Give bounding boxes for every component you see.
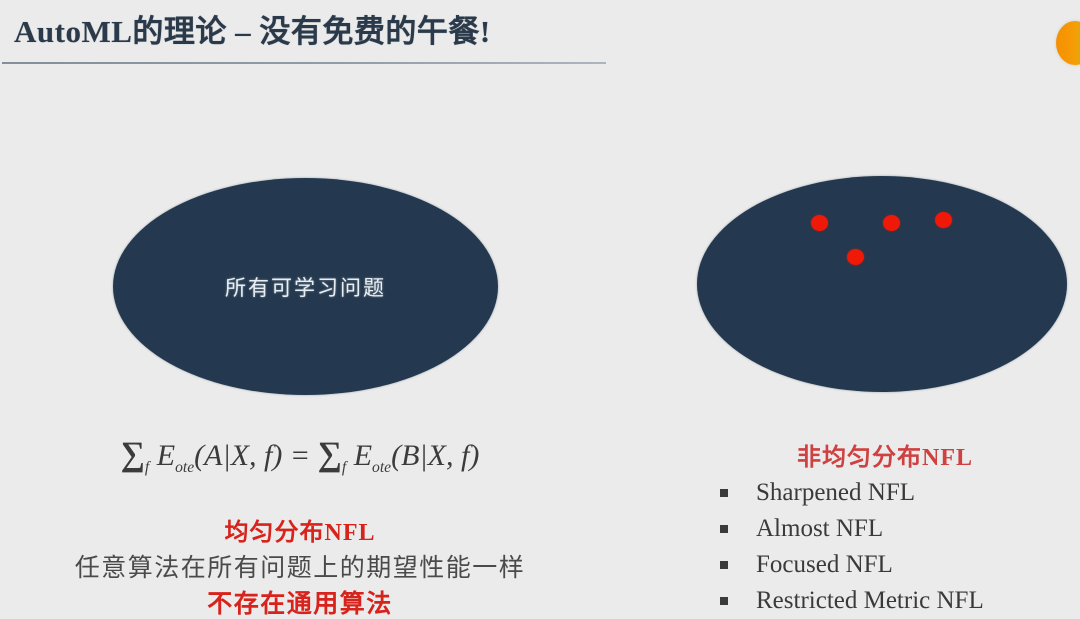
list-item-label: Sharpened NFL <box>756 479 915 506</box>
uniform-nfl-description: 任意算法在所有问题上的期望性能一样 <box>0 548 600 584</box>
red-dot <box>883 215 900 231</box>
uniform-nfl-heading: 均匀分布NFL <box>0 512 600 547</box>
formula-rhs-sum: ∑ <box>318 436 342 473</box>
list-item: Restricted Metric NFL <box>714 583 1074 619</box>
formula-rhs-args: (B|X, f) <box>391 439 479 472</box>
uniform-nfl-conclusion: 不存在通用算法 <box>0 584 600 619</box>
formula-equals: = <box>290 439 310 472</box>
red-dot <box>935 212 952 228</box>
formula-lhs-term: E <box>157 439 175 472</box>
list-item: Sharpened NFL <box>714 475 1074 511</box>
list-item-label: Restricted Metric NFL <box>756 587 984 614</box>
formula-lhs-sum: ∑ <box>121 436 145 473</box>
square-bullet-icon <box>720 525 728 533</box>
formula-rhs-sum-sub: f <box>342 459 346 476</box>
ellipse-left-label: 所有可学习问题 <box>113 178 498 395</box>
nonuniform-nfl-list: Sharpened NFL Almost NFL Focused NFL Res… <box>714 475 1074 619</box>
formula-lhs-args: (A|X, f) <box>194 439 282 472</box>
red-dot <box>811 215 828 231</box>
formula-lhs-sum-sub: f <box>145 459 149 476</box>
list-item-label: Focused NFL <box>756 551 893 578</box>
formula-rhs-term: E <box>354 439 372 472</box>
ellipse-nonuniform-problems <box>697 176 1067 392</box>
list-item: Almost NFL <box>714 511 1074 547</box>
formula-rhs-term-sub: ote <box>372 459 391 476</box>
ellipse-all-learnable-problems: 所有可学习问题 <box>113 178 498 395</box>
square-bullet-icon <box>720 489 728 497</box>
corner-gradient-blob-icon <box>1056 21 1080 65</box>
slide-canvas: AutoML的理论 – 没有免费的午餐! 所有可学习问题 ∑f Eote(A|X… <box>0 0 1080 619</box>
square-bullet-icon <box>720 561 728 569</box>
nfl-formula: ∑f Eote(A|X, f) = ∑f Eote(B|X, f) <box>0 436 600 477</box>
page-title: AutoML的理论 – 没有免费的午餐! <box>14 6 491 51</box>
list-item: Focused NFL <box>714 547 1074 583</box>
red-dot <box>847 249 864 265</box>
square-bullet-icon <box>720 597 728 605</box>
formula-lhs-term-sub: ote <box>175 459 194 476</box>
nonuniform-nfl-heading: 非均匀分布NFL <box>690 437 1080 472</box>
title-divider <box>2 62 606 64</box>
list-item-label: Almost NFL <box>756 515 883 542</box>
